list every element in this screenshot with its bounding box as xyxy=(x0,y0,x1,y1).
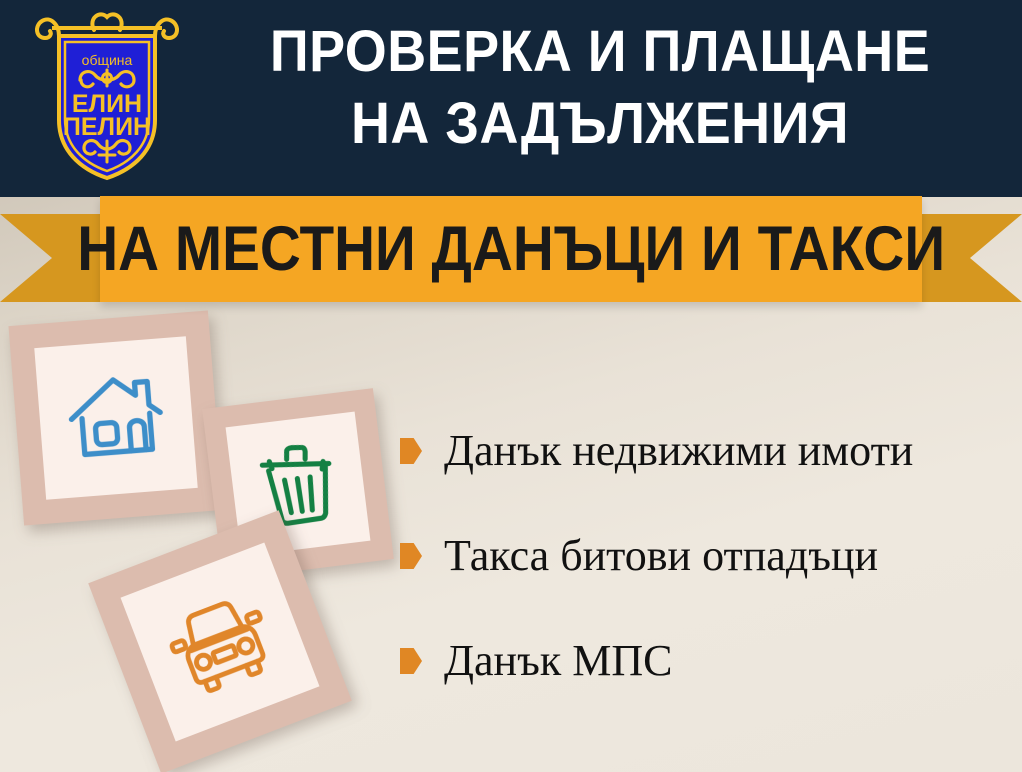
poster-title: ПРОВЕРКА И ПЛАЩАНЕ НА ЗАДЪЛЖЕНИЯ xyxy=(190,16,1010,160)
subtitle-ribbon: НА МЕСТНИ ДАНЪЦИ И ТАКСИ xyxy=(0,196,1022,311)
list-item-label: Такса битови отпадъци xyxy=(444,531,878,581)
svg-text:община: община xyxy=(82,52,133,68)
bullet-arrow-icon xyxy=(400,438,422,464)
municipality-logo: община ЕЛИН ПЕЛИН xyxy=(26,8,188,188)
house-icon xyxy=(8,310,223,525)
bullet-arrow-icon xyxy=(400,543,422,569)
title-line-2: НА ЗАДЪЛЖЕНИЯ xyxy=(219,88,982,160)
list-item[interactable]: Данък МПС xyxy=(400,634,1010,688)
svg-text:ПЕЛИН: ПЕЛИН xyxy=(63,113,151,141)
list-item[interactable]: Такса битови отпадъци xyxy=(400,529,1010,583)
bullet-arrow-icon xyxy=(400,648,422,674)
list-item-label: Данък недвижими имоти xyxy=(444,426,913,476)
ribbon-band: НА МЕСТНИ ДАНЪЦИ И ТАКСИ xyxy=(100,196,922,302)
title-line-1: ПРОВЕРКА И ПЛАЩАНЕ xyxy=(219,16,982,88)
tax-type-list: Данък недвижими имоти Такса битови отпад… xyxy=(400,424,1010,739)
list-item[interactable]: Данък недвижими имоти xyxy=(400,424,1010,478)
poster-canvas: община ЕЛИН ПЕЛИН ПРОВЕРКА И ПЛАЩАНЕ НА … xyxy=(0,0,1022,772)
ribbon-label: НА МЕСТНИ ДАНЪЦИ И ТАКСИ xyxy=(77,218,945,281)
stamp-card-house xyxy=(8,310,223,525)
list-item-label: Данък МПС xyxy=(444,636,672,686)
